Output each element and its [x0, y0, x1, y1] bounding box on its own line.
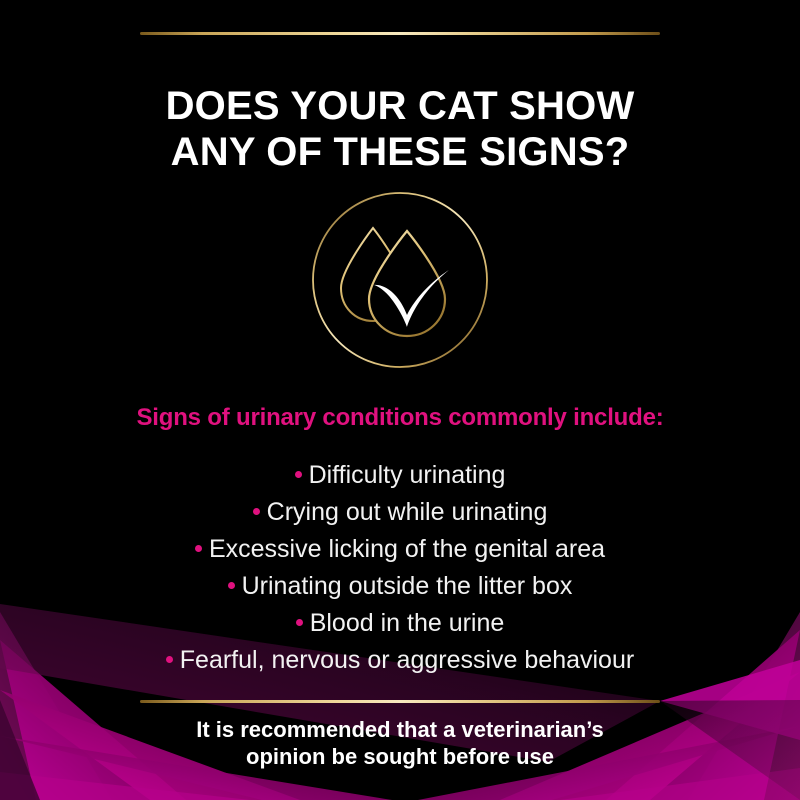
list-item-label: Blood in the urine	[310, 609, 505, 637]
bullet-dot-icon	[253, 508, 260, 515]
list-item-label: Excessive licking of the genital area	[209, 535, 605, 563]
bullet-dot-icon	[296, 619, 303, 626]
signs-list: Difficulty urinating Crying out while ur…	[0, 457, 800, 679]
footer-line-2: opinion be sought before use	[0, 743, 800, 770]
footer-disclaimer: It is recommended that a veterinarian’s …	[0, 716, 800, 770]
list-item-label: Fearful, nervous or aggressive behaviour	[180, 646, 634, 674]
list-item: Excessive licking of the genital area	[0, 531, 800, 568]
water-droplets-check-icon	[311, 191, 489, 369]
page-title-line-1: DOES YOUR CAT SHOW	[0, 83, 800, 129]
list-item: Difficulty urinating	[0, 457, 800, 494]
footer-line-1: It is recommended that a veterinarian’s	[0, 716, 800, 743]
list-item: Fearful, nervous or aggressive behaviour	[0, 642, 800, 679]
page-title: DOES YOUR CAT SHOW ANY OF THESE SIGNS?	[0, 83, 800, 175]
signs-subheading: Signs of urinary conditions commonly inc…	[0, 404, 800, 432]
page-title-line-2: ANY OF THESE SIGNS?	[0, 129, 800, 175]
top-gold-divider	[140, 32, 660, 35]
bullet-dot-icon	[166, 656, 173, 663]
list-item-label: Crying out while urinating	[267, 498, 548, 526]
bullet-dot-icon	[195, 545, 202, 552]
bullet-dot-icon	[228, 582, 235, 589]
urinary-signs-poster: DOES YOUR CAT SHOW ANY OF THESE SIGNS? S…	[0, 0, 800, 800]
list-item-label: Difficulty urinating	[309, 461, 506, 489]
bullet-dot-icon	[295, 471, 302, 478]
list-item: Crying out while urinating	[0, 494, 800, 531]
list-item-label: Urinating outside the litter box	[242, 572, 573, 600]
list-item: Urinating outside the litter box	[0, 568, 800, 605]
bottom-gold-divider	[140, 700, 660, 703]
list-item: Blood in the urine	[0, 605, 800, 642]
